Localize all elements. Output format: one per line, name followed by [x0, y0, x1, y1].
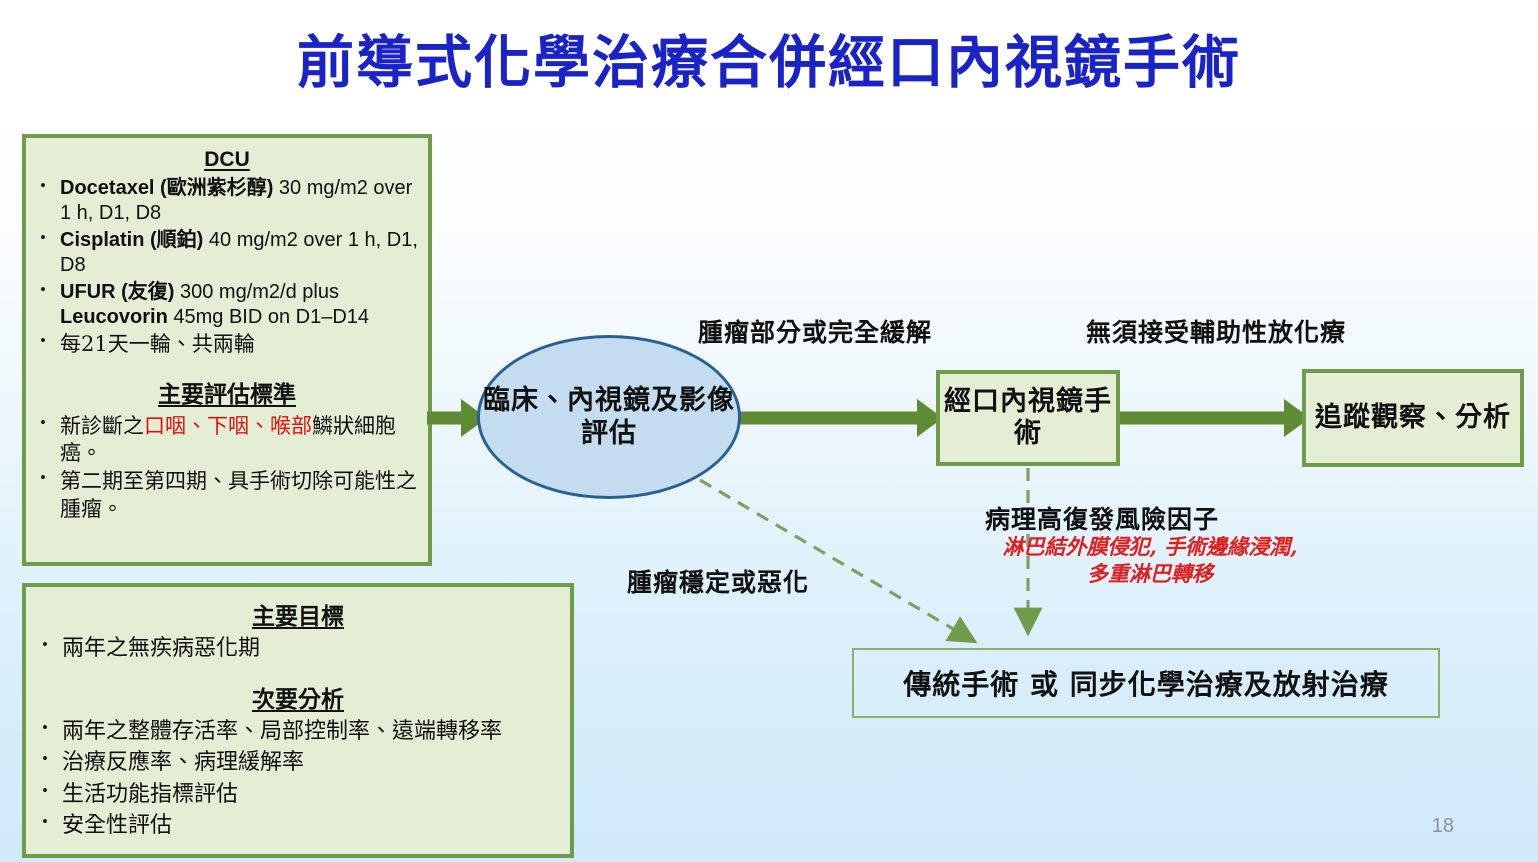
primary-objective-heading: 主要目標 [38, 597, 558, 631]
edge-label-tumor-response: 腫瘤部分或完全緩解 [698, 313, 932, 349]
edge-label-stable-or-progression: 腫瘤穩定或惡化 [627, 563, 809, 599]
protocol-panel: DCU Docetaxel (歐洲紫杉醇) 30 mg/m2 over 1 h,… [22, 134, 432, 566]
secondary-analysis-list: 兩年之整體存活率、局部控制率、遠端轉移率 治療反應率、病理緩解率 生活功能指標評… [38, 718, 558, 841]
list-item: 兩年之整體存活率、局部控制率、遠端轉移率 [38, 718, 558, 747]
list-item: 生活功能指標評估 [38, 781, 558, 810]
list-item: 安全性評估 [38, 812, 558, 841]
protocol-criteria-list: 新診斷之口咽、下咽、喉部鱗狀細胞癌。 第二期至第四期、具手術切除可能性之腫瘤。 [36, 413, 418, 523]
secondary-analysis-text: 兩年之整體存活率、局部控制率、遠端轉移率 [62, 719, 502, 744]
primary-objective-text: 兩年之無疾病惡化期 [62, 636, 260, 661]
arrow-evaluation-to-tors [735, 398, 943, 438]
secondary-analysis-text: 治療反應率、病理緩解率 [62, 750, 304, 775]
node-clinical-evaluation: 臨床、內視鏡及影像評估 [477, 335, 741, 499]
list-item: 治療反應率、病理緩解率 [38, 749, 558, 778]
criteria-highlight: 口咽、下咽、喉部 [144, 414, 312, 438]
page-number: 18 [1432, 815, 1454, 838]
risk-factors-title: 病理高復發風險因子 [985, 500, 1219, 536]
secondary-analysis-heading: 次要分析 [38, 680, 558, 714]
objectives-panel: 主要目標 兩年之無疾病惡化期 次要分析 兩年之整體存活率、局部控制率、遠端轉移率… [22, 583, 574, 858]
cycle-text: 每21天一輪、共兩輪 [60, 332, 255, 356]
drug-dose: 300 mg/m2/d plus [174, 281, 339, 303]
list-item: Docetaxel (歐洲紫杉醇) 30 mg/m2 over 1 h, D1,… [36, 176, 418, 227]
node-followup-analysis: 追蹤觀察、分析 [1302, 369, 1524, 467]
arrow-tors-to-followup [1112, 398, 1310, 438]
page-title: 前導式化學治療合併經口內視鏡手術 [0, 32, 1538, 95]
list-item: 兩年之無疾病惡化期 [38, 635, 558, 664]
list-item: 新診斷之口咽、下咽、喉部鱗狀細胞癌。 [36, 413, 418, 468]
criteria-text: 第二期至第四期、具手術切除可能性之腫瘤。 [60, 469, 417, 520]
list-item: 第二期至第四期、具手術切除可能性之腫瘤。 [36, 468, 418, 523]
risk-factors-detail: 淋巴結外膜侵犯, 手術邊緣浸潤, 多重淋巴轉移 [940, 533, 1360, 588]
arrow-shaft [735, 412, 921, 425]
protocol-heading: DCU [36, 148, 418, 172]
node-transoral-endoscopic-surgery: 經口內視鏡手術 [936, 370, 1120, 466]
list-item: 每21天一輪、共兩輪 [36, 331, 418, 358]
criteria-heading: 主要評估標準 [36, 375, 418, 409]
drug-name: Docetaxel (歐洲紫杉醇) [60, 177, 273, 199]
primary-objective-list: 兩年之無疾病惡化期 [38, 635, 558, 664]
criteria-text-pre: 新診斷之 [60, 414, 144, 438]
list-item: Cisplatin (順鉑) 40 mg/m2 over 1 h, D1, D8 [36, 228, 418, 279]
drug-name: UFUR (友復) [60, 281, 174, 303]
edge-label-no-adjuvant-therapy: 無須接受輔助性放化療 [1086, 313, 1346, 349]
list-item: UFUR (友復) 300 mg/m2/d plus Leucovorin 45… [36, 280, 418, 331]
dashed-connector [700, 480, 972, 640]
node-salvage-treatment: 傳統手術 或 同步化學治療及放射治療 [852, 648, 1440, 718]
secondary-analysis-text: 安全性評估 [62, 813, 172, 838]
drug-name: Cisplatin (順鉑) [60, 229, 203, 251]
drug-name-secondary: Leucovorin [60, 306, 168, 328]
drug-dose-secondary: 45mg BID on D1–D14 [168, 306, 369, 328]
risk-factors-line-2: 多重淋巴轉移 [940, 560, 1360, 587]
arrow-shaft [1112, 412, 1288, 425]
risk-factors-line-1: 淋巴結外膜侵犯, 手術邊緣浸潤, [940, 533, 1360, 560]
secondary-analysis-text: 生活功能指標評估 [62, 782, 238, 807]
protocol-drug-list: Docetaxel (歐洲紫杉醇) 30 mg/m2 over 1 h, D1,… [36, 176, 418, 359]
